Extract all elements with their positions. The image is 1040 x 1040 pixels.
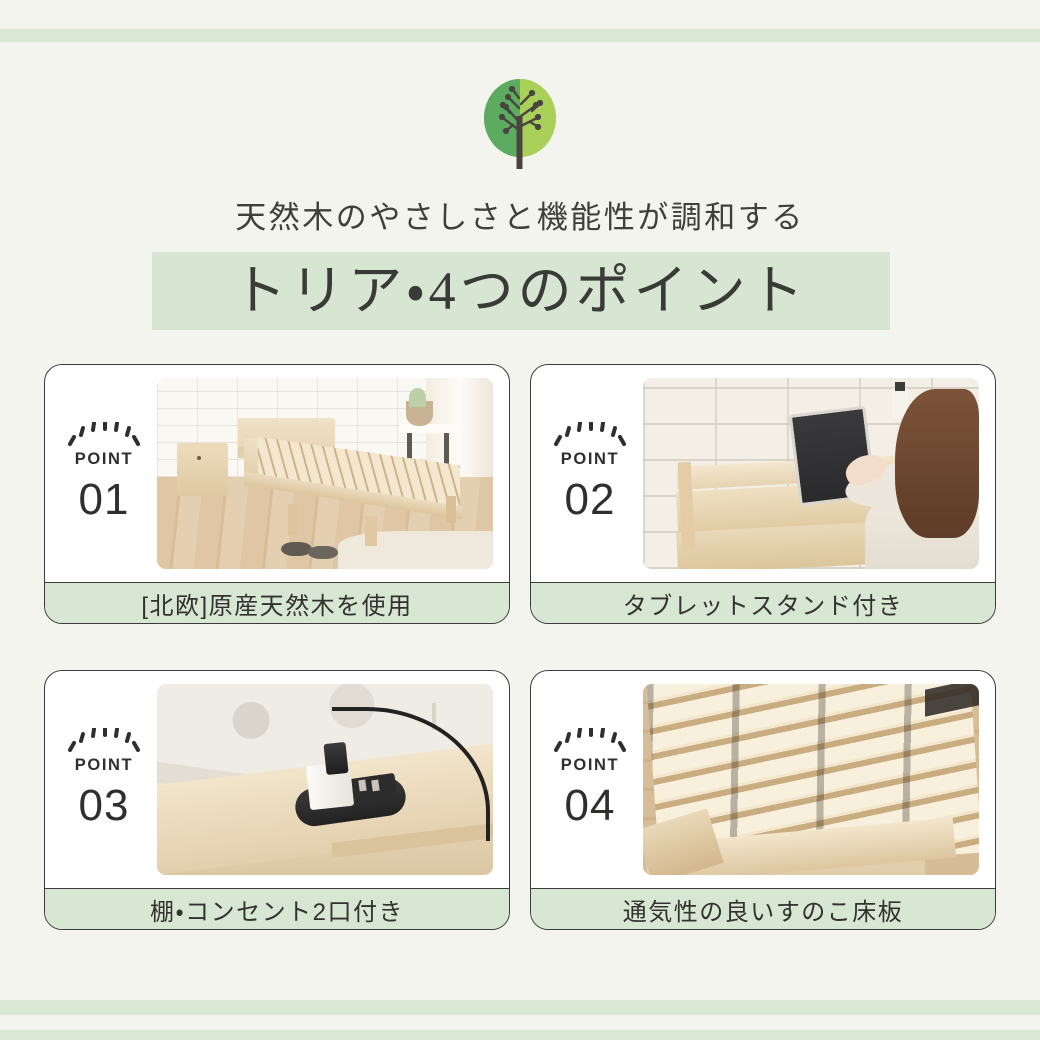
point-number: 03 [51,780,157,832]
bottom-decorative-stripe-2 [0,1030,1040,1040]
point-badge-04: POINT 04 [531,728,643,832]
point-caption-04: 通気性の良いすのこ床板 [531,888,995,929]
rays-icon [66,422,142,448]
rays-icon [552,422,628,448]
point-label: POINT [537,450,643,468]
top-decorative-stripe [0,29,1040,42]
point-caption-01: [北欧]原産天然木を使用 [45,582,509,623]
point-photo-04 [643,684,979,875]
point-photo-03 [157,684,493,875]
point-badge-03: POINT 03 [45,728,157,832]
point-card-03[interactable]: POINT 03 棚・コンセント2口付き [44,670,510,930]
point-number: 04 [537,780,643,832]
tree-icon [0,78,1040,174]
point-label: POINT [51,756,157,774]
points-grid: POINT 01 [北欧]原産天然木を使用 [44,364,996,930]
rays-icon [552,728,628,754]
point-card-02[interactable]: POINT 02 タブレットスタンド付き [530,364,996,624]
point-photo-01 [157,378,493,569]
point-card-01[interactable]: POINT 01 [北欧]原産天然木を使用 [44,364,510,624]
point-photo-02 [643,378,979,569]
point-number: 01 [51,474,157,526]
point-caption-03: 棚・コンセント2口付き [45,888,509,929]
point-card-body: POINT 02 [531,365,995,582]
point-card-body: POINT 01 [45,365,509,582]
point-caption-02: タブレットスタンド付き [531,582,995,623]
point-label: POINT [51,450,157,468]
point-label: POINT [537,756,643,774]
page-title: トリア・4つのポイント [0,250,1040,332]
point-card-body: POINT 03 [45,671,509,888]
point-number: 02 [537,474,643,526]
bottom-decorative-stripe-1 [0,1000,1040,1015]
point-badge-02: POINT 02 [531,422,643,526]
point-card-04[interactable]: POINT 04 通気性の良いすのこ床板 [530,670,996,930]
point-card-body: POINT 04 [531,671,995,888]
page-subtitle: 天然木のやさしさと機能性が調和する [0,192,1040,237]
rays-icon [66,728,142,754]
point-badge-01: POINT 01 [45,422,157,526]
